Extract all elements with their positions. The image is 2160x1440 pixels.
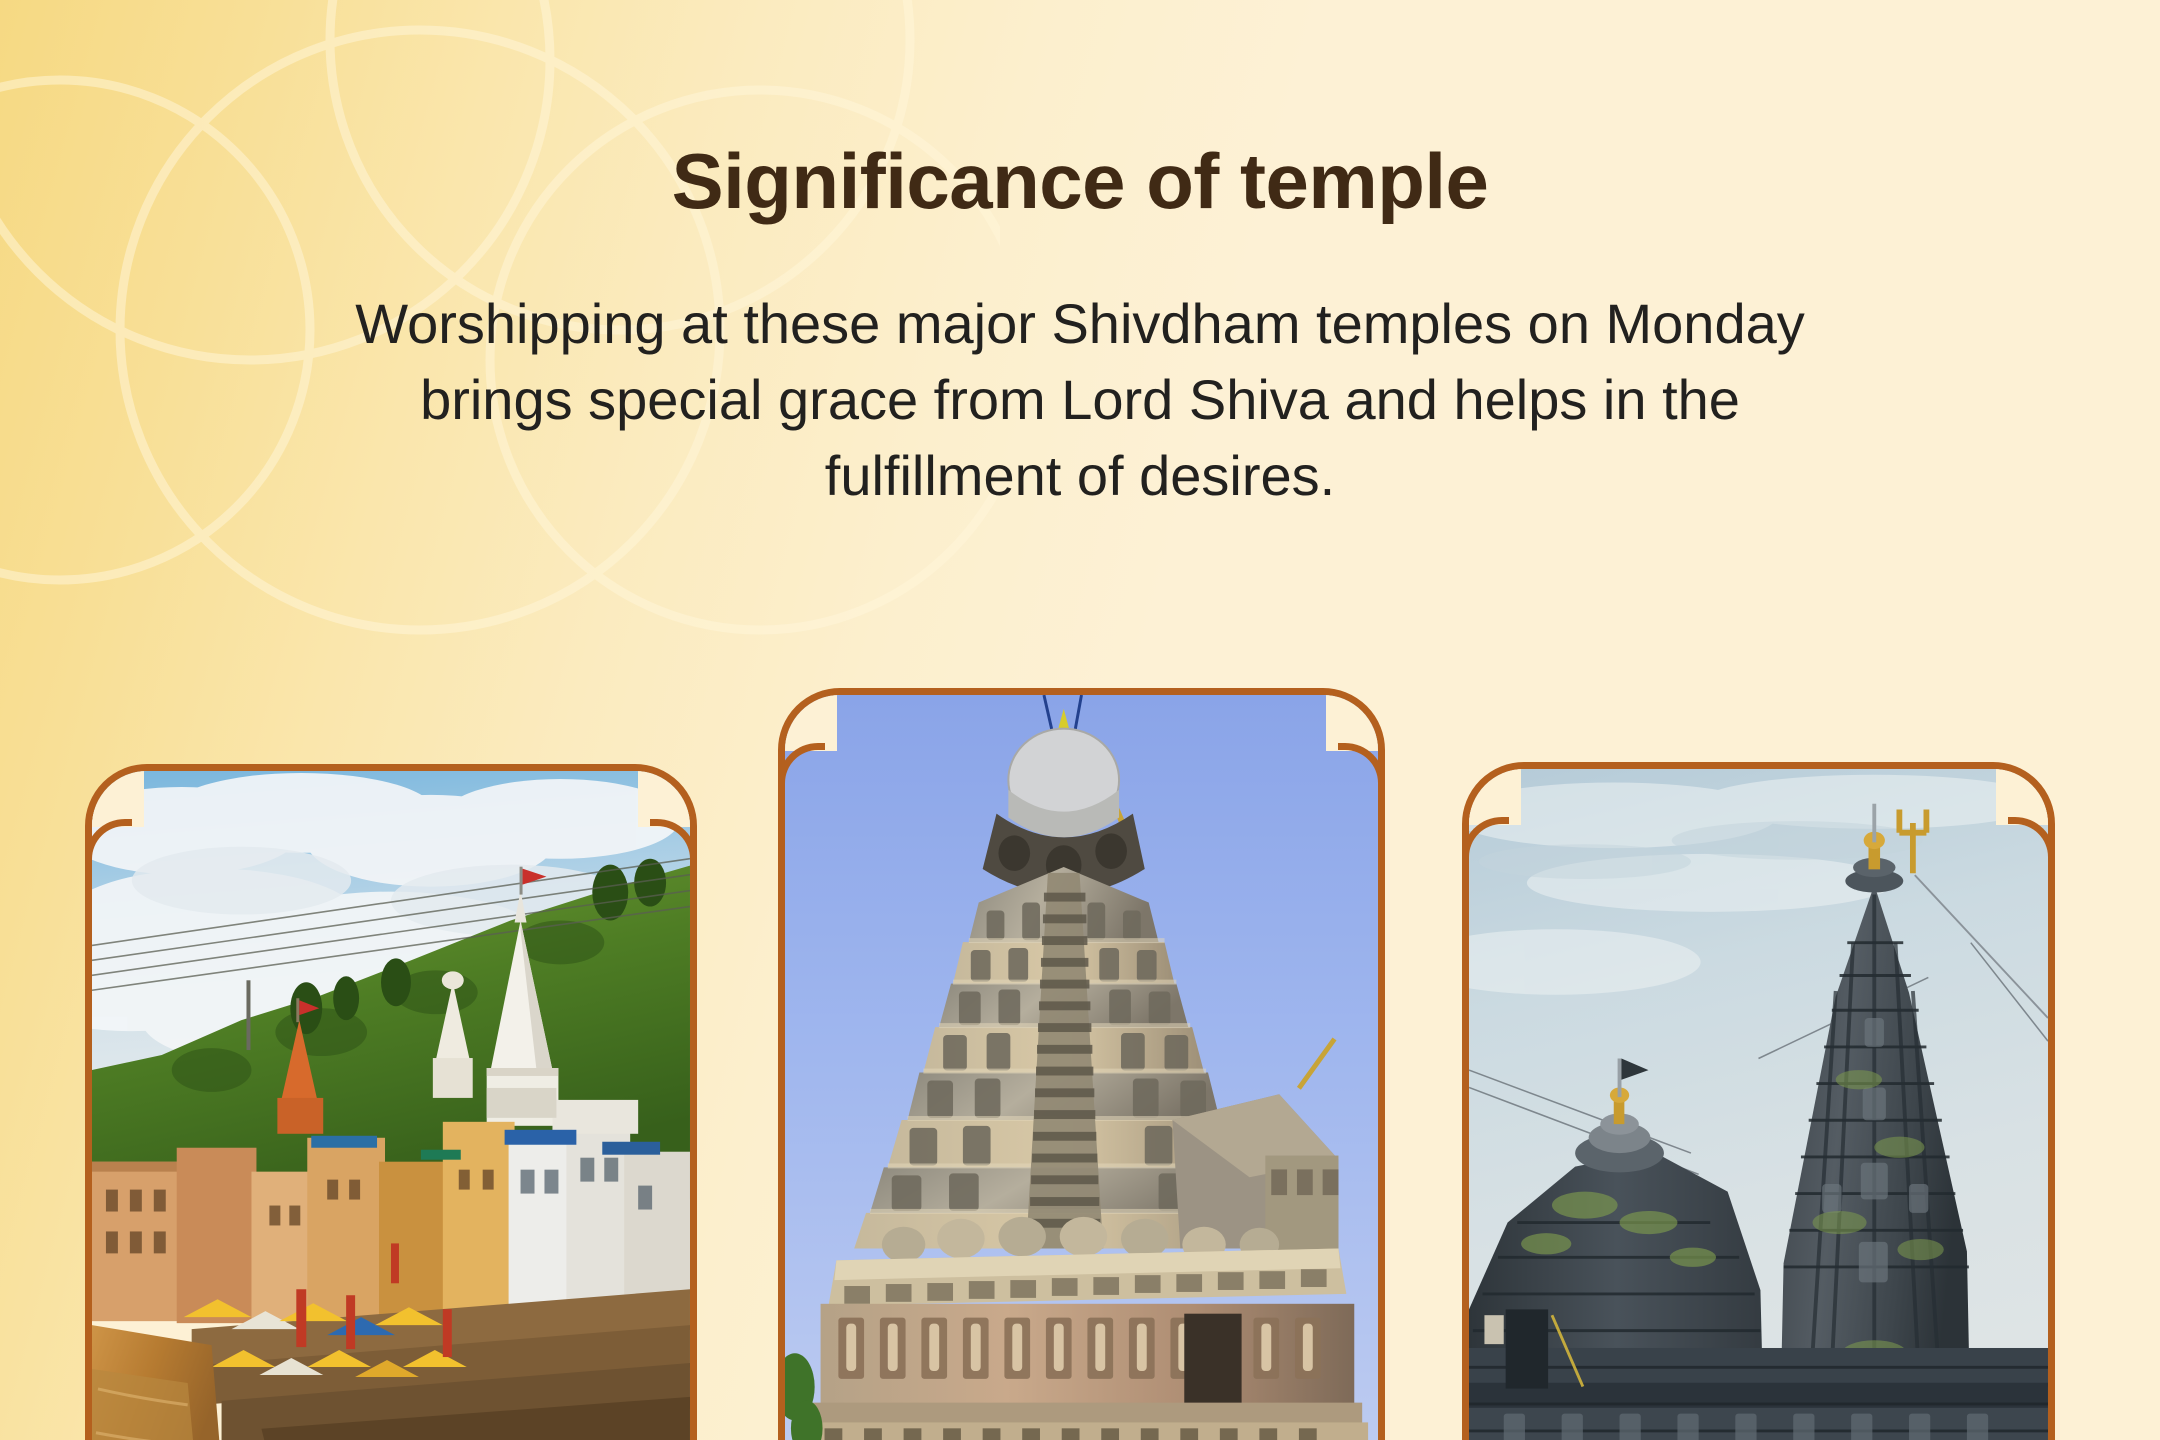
temple-photo-grishneshwar [785, 695, 1378, 1440]
poster-content: Significance of temple Worshipping at th… [0, 0, 2160, 1440]
page-subtitle: Worshipping at these major Shivdham temp… [0, 286, 2160, 514]
temple-image-card-trimbakeshwar[interactable] [1462, 762, 2055, 1440]
temple-photo-trimbakeshwar [1469, 769, 2048, 1440]
page-title: Significance of temple [0, 136, 2160, 227]
temple-image-card-omkareshwar[interactable] [85, 764, 697, 1440]
subtitle-line-2: brings special grace from Lord Shiva and… [0, 362, 2160, 438]
subtitle-line-3: fulfillment of desires. [0, 438, 2160, 514]
temple-photo-omkareshwar [92, 771, 690, 1440]
subtitle-line-1: Worshipping at these major Shivdham temp… [0, 286, 2160, 362]
temple-image-card-grishneshwar[interactable] [778, 688, 1385, 1440]
